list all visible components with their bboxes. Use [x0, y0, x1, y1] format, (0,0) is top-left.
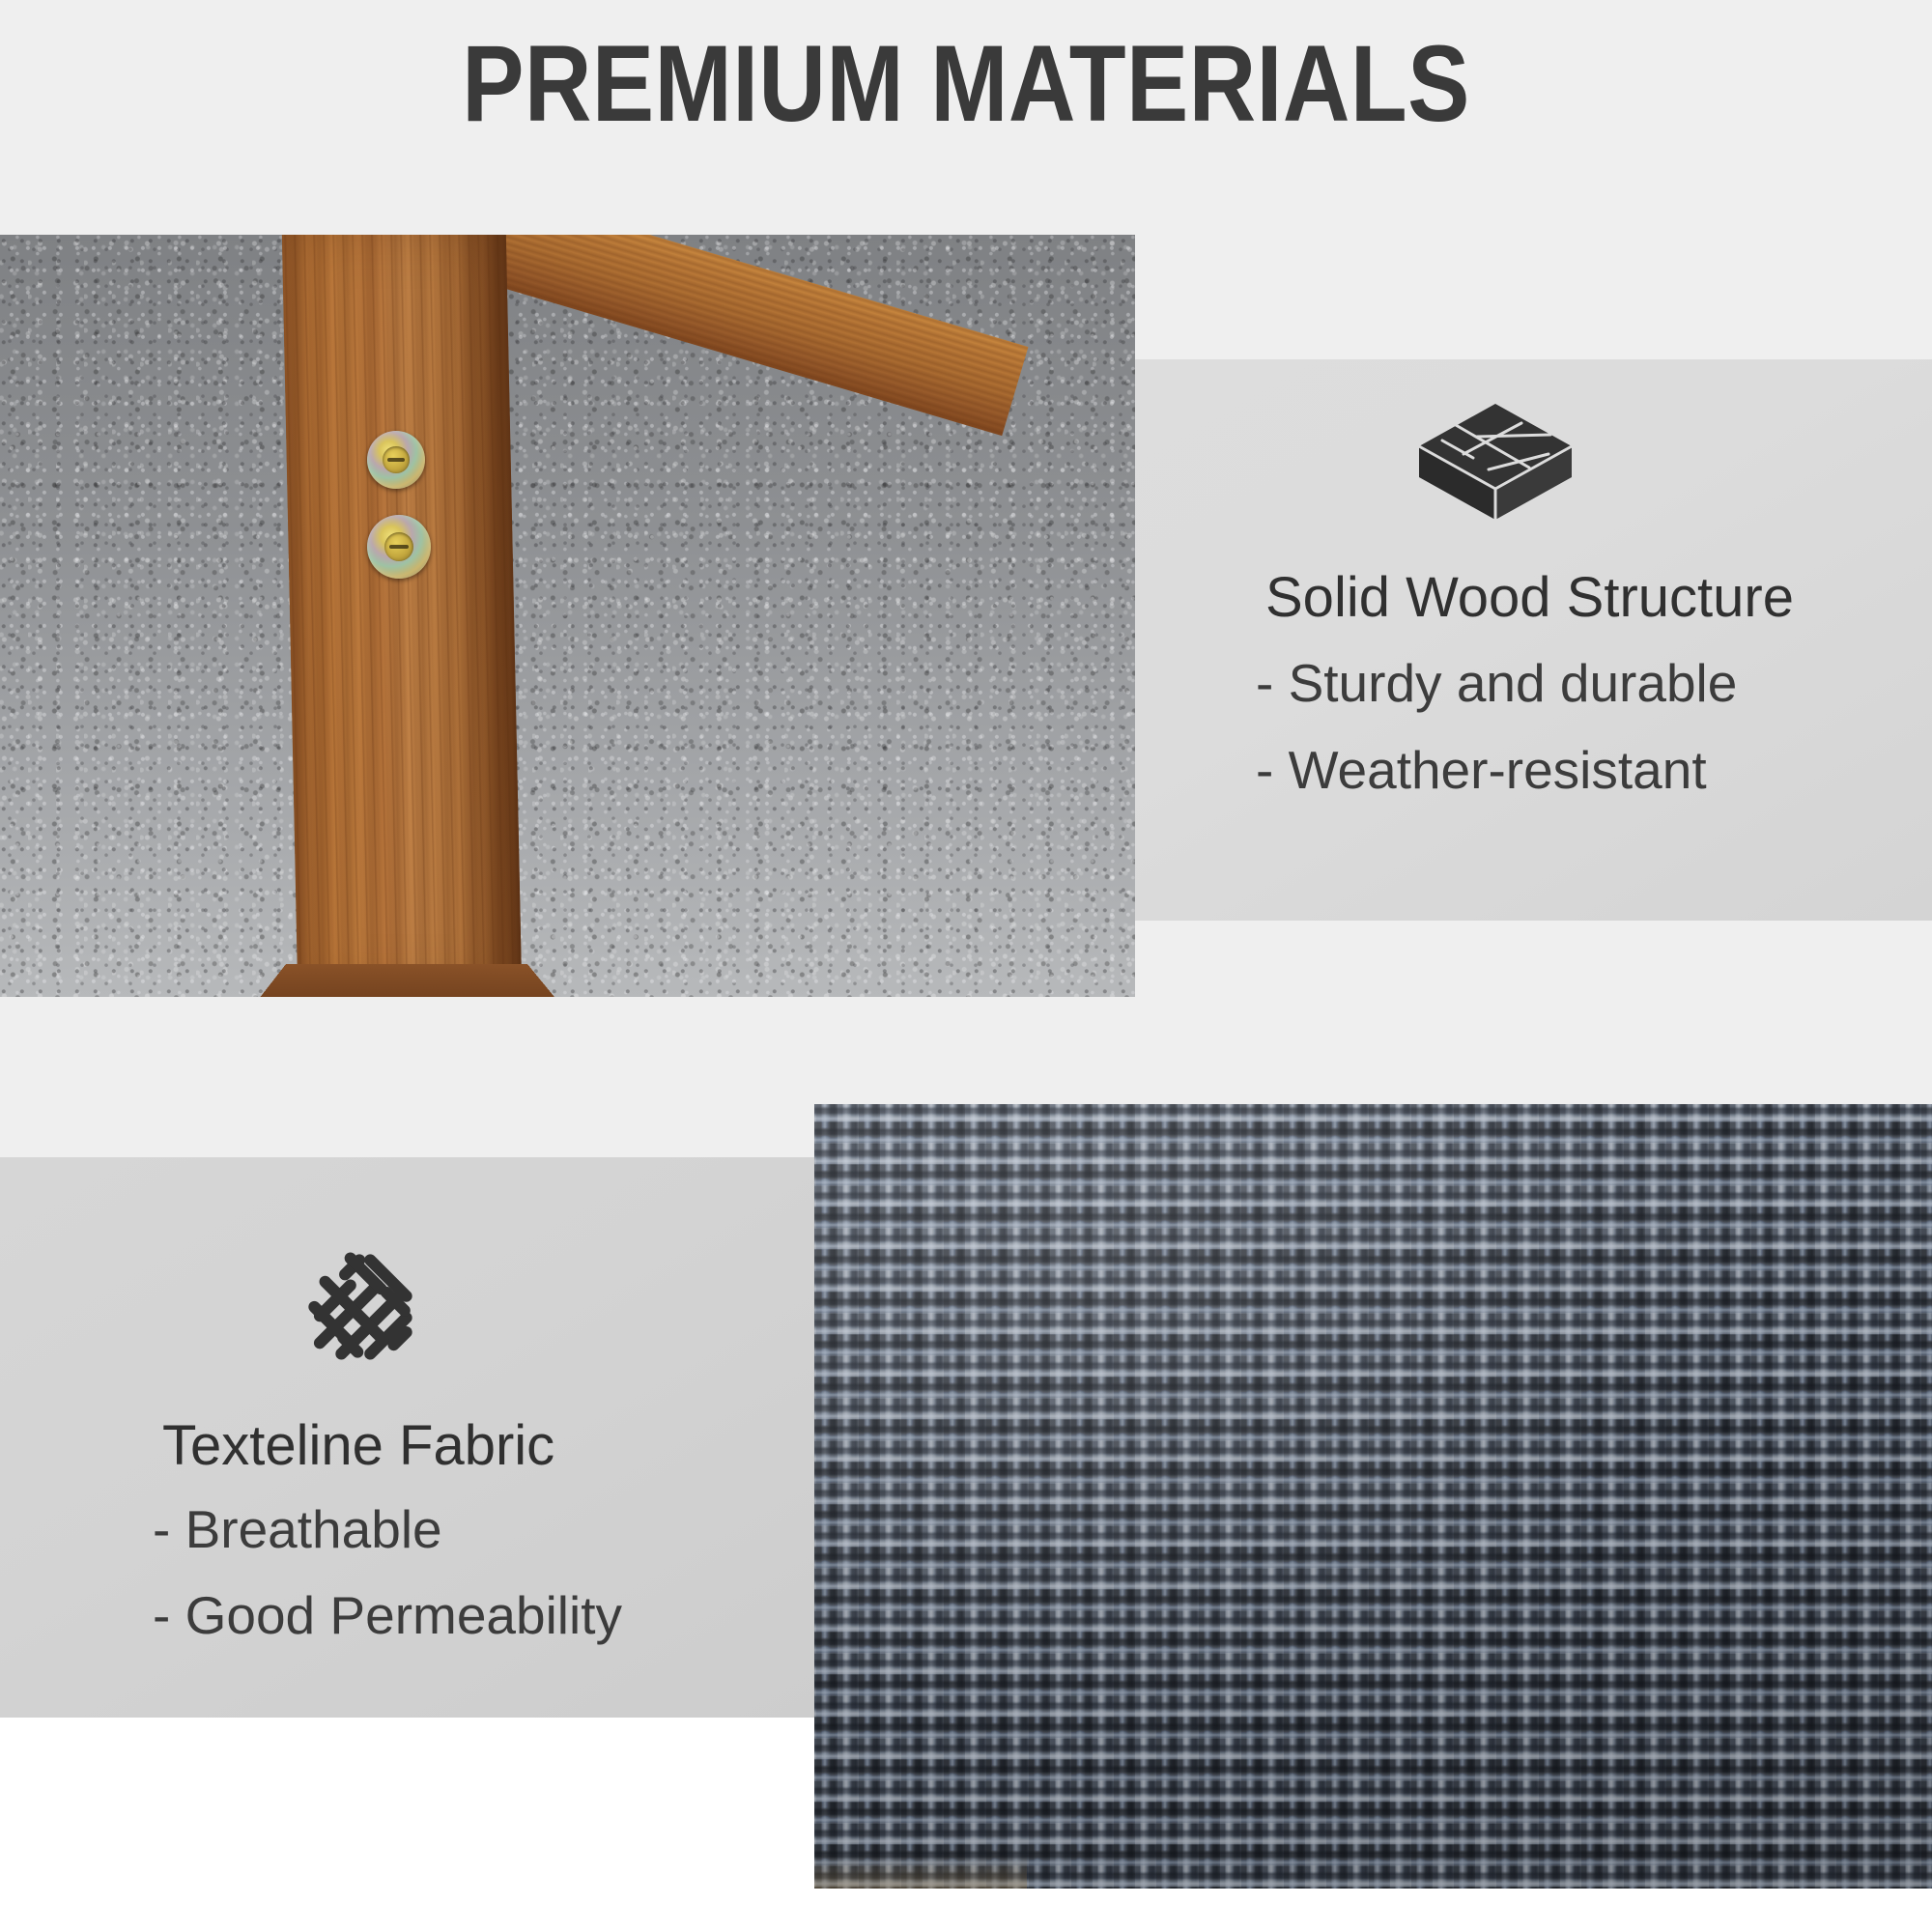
- leg-bottom-face: [249, 964, 565, 997]
- woven-fabric-icon: [278, 1238, 442, 1374]
- screw-icon-middle: [367, 515, 431, 579]
- wood-leg-photo: [0, 235, 1135, 997]
- feature-title-texteline-fabric: Texteline Fabric: [162, 1418, 554, 1474]
- row-2-background-upper: [814, 997, 1932, 1104]
- feature-bullet-texteline-1: - Breathable: [153, 1503, 442, 1556]
- feature-title-solid-wood: Solid Wood Structure: [1265, 570, 1794, 626]
- screw-head-inner: [384, 532, 413, 561]
- fabric-warm-edge-tint: [814, 1856, 1027, 1889]
- feature-bullet-solid-wood-1: - Sturdy and durable: [1256, 657, 1737, 710]
- screw-slot: [389, 545, 408, 549]
- screw-head-inner: [383, 446, 410, 473]
- fabric-lighting-overlay: [814, 1104, 1932, 1889]
- row-2-left-white-footer: [0, 1718, 814, 1932]
- feature-bullet-solid-wood-2: - Weather-resistant: [1256, 744, 1707, 797]
- wood-plank-icon: [1413, 398, 1577, 533]
- feature-bullet-texteline-2: - Good Permeability: [153, 1589, 622, 1642]
- page-title: PREMIUM MATERIALS: [135, 27, 1797, 141]
- infographic-page: PREMIUM MATERIALS: [0, 0, 1932, 1932]
- screw-slot: [387, 458, 405, 462]
- screw-icon-top: [367, 431, 425, 489]
- fabric-weave-photo: [814, 1104, 1932, 1889]
- wood-leg-post: [282, 235, 523, 997]
